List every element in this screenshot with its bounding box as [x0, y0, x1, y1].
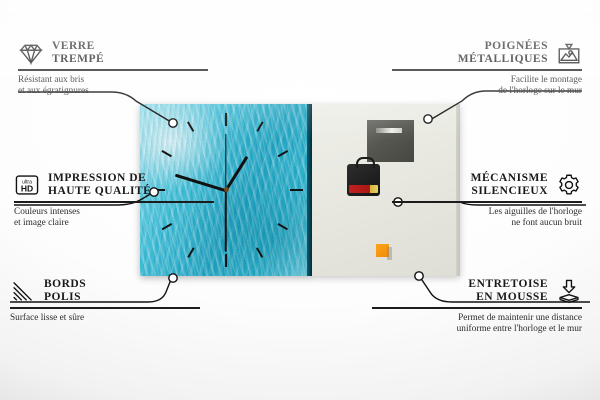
feature-heading: VERRE TREMPÉ — [18, 40, 208, 66]
metal-hanger-plate — [367, 120, 414, 162]
battery — [349, 185, 378, 193]
hour-tick — [290, 189, 303, 191]
hour-tick — [256, 121, 263, 131]
feature-title: IMPRESSION DE HAUTE QUALITÉ — [48, 172, 151, 198]
feature-poignees-metalliques: POIGNÉES MÉTALLIQUES Facilite le montage… — [392, 40, 582, 97]
hour-tick — [256, 247, 263, 257]
hour-tick — [225, 254, 227, 267]
clock-mechanism-box — [347, 164, 380, 196]
gear-icon — [556, 172, 582, 198]
feature-description: Facilite le montage de l'horloge sur le … — [392, 75, 582, 98]
feature-description: Surface lisse et sûre — [10, 313, 200, 324]
feature-title: POIGNÉES MÉTALLIQUES — [458, 40, 548, 66]
hour-tick — [225, 113, 227, 126]
feature-heading: POIGNÉES MÉTALLIQUES — [392, 40, 582, 66]
svg-text:HD: HD — [21, 184, 33, 194]
foam-spacer-icon — [556, 278, 582, 304]
feature-mecanisme-silencieux: MÉCANISME SILENCIEUX Les aiguilles de l'… — [392, 172, 582, 229]
ultra-hd-icon: ultra HD — [14, 172, 40, 198]
divider — [392, 201, 582, 203]
hanging-loop — [356, 157, 375, 168]
picture-frame-icon — [556, 40, 582, 66]
divider — [372, 307, 582, 309]
clock-hand-second-tail — [225, 134, 226, 190]
feature-verre-trempe: VERRE TREMPÉ Résistant aux bris et aux é… — [18, 40, 208, 97]
divider — [14, 201, 214, 203]
polished-edge-icon — [10, 278, 36, 304]
diamond-icon — [18, 40, 44, 66]
feature-heading: MÉCANISME SILENCIEUX — [392, 172, 582, 198]
divider — [10, 307, 200, 309]
hour-tick — [278, 223, 288, 230]
feature-heading: ENTRETOISE EN MOUSSE — [372, 278, 582, 304]
hour-tick — [187, 247, 194, 257]
clock-hand-second — [225, 190, 227, 252]
hour-tick — [162, 150, 172, 157]
feature-title: BORDS POLIS — [44, 278, 86, 304]
feature-title: MÉCANISME SILENCIEUX — [471, 172, 548, 198]
feature-impression-haute-qualite: ultra HD IMPRESSION DE HAUTE QUALITÉ Cou… — [14, 172, 214, 229]
feature-entretoise-en-mousse: ENTRETOISE EN MOUSSE Permet de maintenir… — [372, 278, 582, 335]
hour-tick — [278, 150, 288, 157]
infographic-canvas: VERRE TREMPÉ Résistant aux bris et aux é… — [0, 0, 600, 400]
foam-spacer-pad — [376, 244, 389, 257]
clock-center-hub — [224, 187, 229, 192]
feature-title: VERRE TREMPÉ — [52, 40, 104, 66]
feature-description: Couleurs intenses et image claire — [14, 207, 214, 230]
hanger-slot — [376, 128, 402, 133]
feature-title: ENTRETOISE EN MOUSSE — [468, 278, 548, 304]
clock-hand-hour — [225, 156, 249, 192]
hour-tick — [187, 121, 194, 131]
divider — [392, 69, 582, 71]
feature-bords-polis: BORDS POLIS Surface lisse et sûre — [10, 278, 200, 324]
divider — [18, 69, 208, 71]
feature-description: Permet de maintenir une distance uniform… — [372, 313, 582, 336]
feature-description: Les aiguilles de l'horloge ne font aucun… — [392, 207, 582, 230]
feature-description: Résistant aux bris et aux égratignures — [18, 75, 208, 98]
feature-heading: ultra HD IMPRESSION DE HAUTE QUALITÉ — [14, 172, 214, 198]
feature-heading: BORDS POLIS — [10, 278, 200, 304]
